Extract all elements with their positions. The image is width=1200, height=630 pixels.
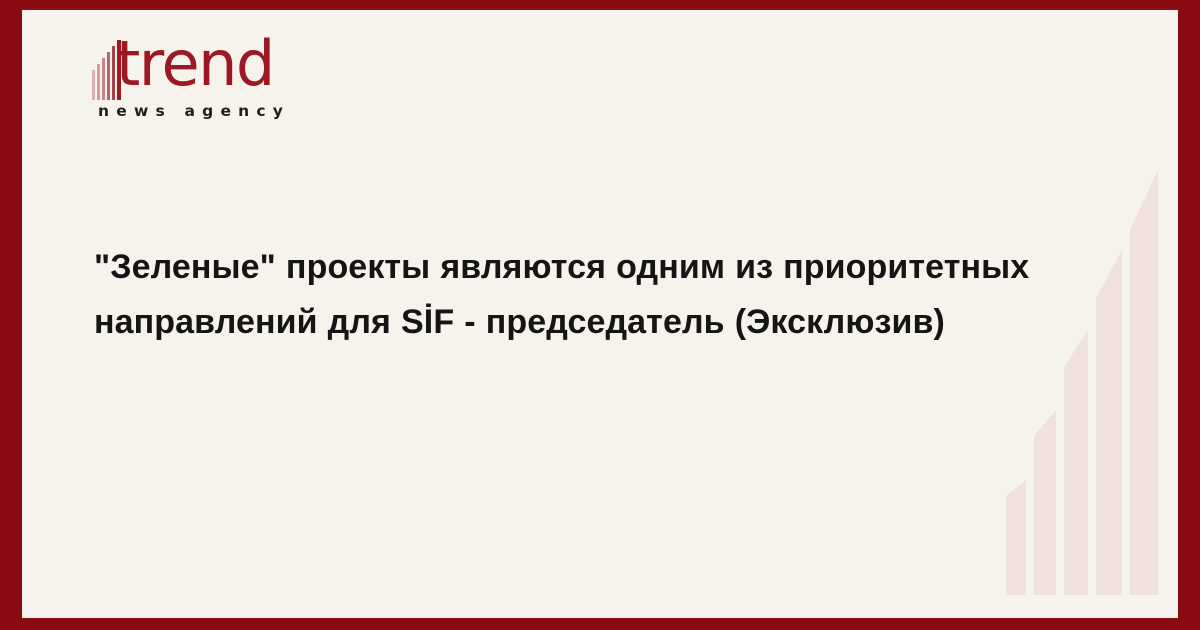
logo-mark: trend — [92, 40, 352, 102]
logo-bar — [92, 70, 95, 100]
logo-tagline: news agency — [98, 104, 290, 120]
card-content-area: trend news agency "Зеленые" проекты явля… — [22, 10, 1178, 618]
headline: "Зеленые" проекты являются одним из прио… — [94, 240, 1094, 350]
logo-bar — [112, 46, 115, 100]
watermark-bar — [1064, 330, 1088, 595]
trend-logo[interactable]: trend news agency — [92, 40, 352, 140]
logo-bar — [97, 64, 100, 100]
watermark-bar — [1130, 170, 1158, 595]
logo-bar — [107, 52, 110, 100]
logo-bar — [102, 58, 105, 100]
watermark-bar — [1034, 410, 1056, 595]
watermark-bar — [1096, 250, 1122, 595]
logo-wordmark: trend — [116, 33, 274, 95]
share-card: trend news agency "Зеленые" проекты явля… — [0, 0, 1200, 630]
watermark-bar — [1006, 480, 1026, 595]
